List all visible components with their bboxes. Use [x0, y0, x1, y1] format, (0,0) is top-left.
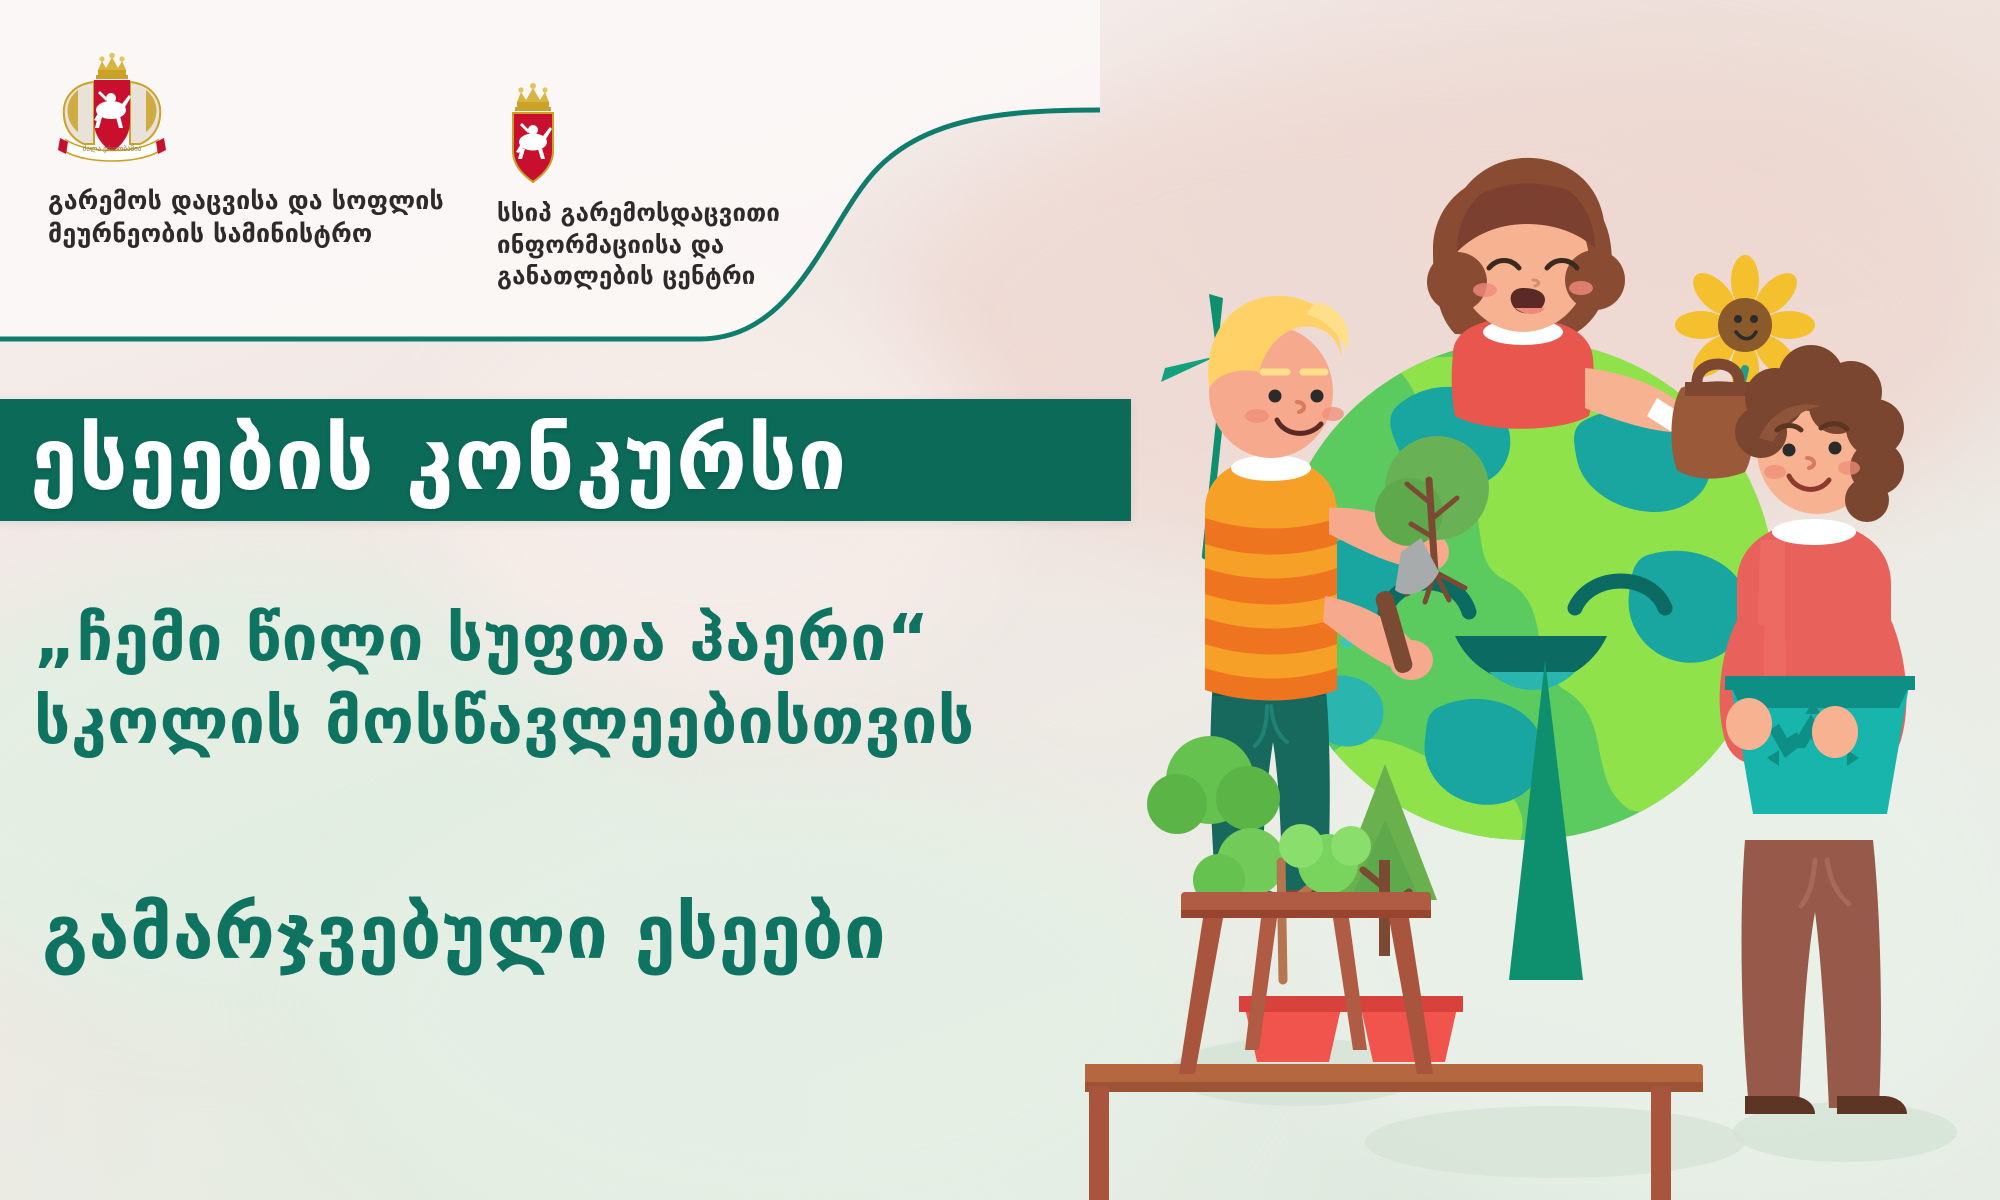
- illustration-children-planting-earth: [1085, 120, 2000, 1200]
- poster-canvas: ძალა ერთობაშია გარემოს დაცვისა და სოფლის…: [0, 0, 2000, 1200]
- logo-center: სსიპ გარემოსდაცვითი ინფორმაციისა და განა…: [497, 66, 827, 293]
- ground-shadow: [1365, 1106, 1745, 1178]
- subtitle-line-1: „ჩემი წილი სუფთა ჰაერი“: [34, 602, 929, 676]
- georgia-coat-of-arms-full-icon: ძალა ერთობაშია: [48, 52, 448, 170]
- logo-ministry: ძალა ერთობაშია გარემოს დაცვისა და სოფლის…: [48, 52, 448, 250]
- svg-text:ძალა ერთობაშია: ძალა ერთობაშია: [83, 144, 142, 153]
- girl-watering-can: [1427, 158, 1687, 434]
- bottom-heading: გამარჯვებული ესეები: [42, 896, 1262, 970]
- title-band: ესეების კონკურსი: [0, 399, 1131, 521]
- subtitle: „ჩემი წილი სუფთა ჰაერი“ სკოლის მოსწავლეე…: [34, 598, 1214, 764]
- subtitle-line-2: სკოლის მოსწავლეებისთვის: [34, 681, 1214, 764]
- logo-ministry-caption: გარემოს დაცვისა და სოფლის მეურნეობის სამ…: [48, 184, 448, 250]
- logo-center-caption: სსიპ გარემოსდაცვითი ინფორმაციისა და განა…: [497, 198, 827, 293]
- page-title: ესეების კონკურსი: [30, 417, 847, 503]
- georgia-shield-crest-icon: [497, 66, 827, 184]
